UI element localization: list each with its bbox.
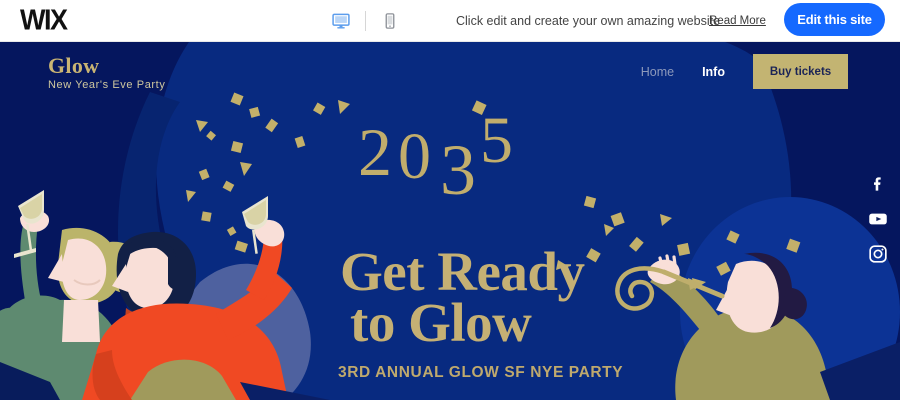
headline-line-2: to Glow — [340, 298, 584, 349]
site-nav: Home Info Buy tickets — [641, 54, 848, 89]
device-separator — [365, 11, 366, 31]
instagram-icon[interactable] — [868, 244, 888, 264]
edit-this-site-button[interactable]: Edit this site — [784, 3, 885, 36]
buy-tickets-button[interactable]: Buy tickets — [753, 54, 848, 89]
desktop-icon — [331, 11, 351, 31]
site-preview: Glow New Year's Eve Party Home Info Buy … — [0, 42, 900, 400]
facebook-icon[interactable] — [868, 174, 888, 194]
hero-year: 2 0 3 5 — [352, 94, 552, 204]
year-digit-4: 5 — [480, 108, 513, 174]
read-more-link[interactable]: Read More — [709, 0, 766, 42]
year-digit-1: 2 — [358, 118, 392, 186]
device-view-switcher — [324, 0, 407, 42]
hero-subheadline: 3RD ANNUAL GLOW SF NYE PARTY — [338, 364, 623, 382]
nav-item-info[interactable]: Info — [702, 65, 725, 79]
site-header: Glow New Year's Eve Party Home Info Buy … — [0, 42, 900, 106]
youtube-icon[interactable] — [868, 209, 888, 229]
editor-tagline: Click edit and create your own amazing w… — [456, 0, 720, 42]
brand-title: Glow — [48, 54, 165, 77]
wix-logo[interactable]: WIX — [20, 6, 67, 34]
wix-editor-topbar: WIX Click edit and create your own a — [0, 0, 900, 42]
year-digit-3: 3 — [440, 134, 476, 206]
screenshot-root: WIX Click edit and create your own a — [0, 0, 900, 400]
site-brand[interactable]: Glow New Year's Eve Party — [48, 54, 165, 91]
year-digit-2: 0 — [398, 124, 431, 190]
desktop-view-button[interactable] — [324, 0, 358, 42]
mobile-icon — [381, 11, 399, 31]
social-links — [868, 174, 888, 264]
nav-item-home[interactable]: Home — [641, 65, 674, 79]
mobile-view-button[interactable] — [373, 0, 407, 42]
brand-subtitle: New Year's Eve Party — [48, 79, 165, 91]
hero-headline: Get Ready to Glow — [340, 247, 584, 348]
